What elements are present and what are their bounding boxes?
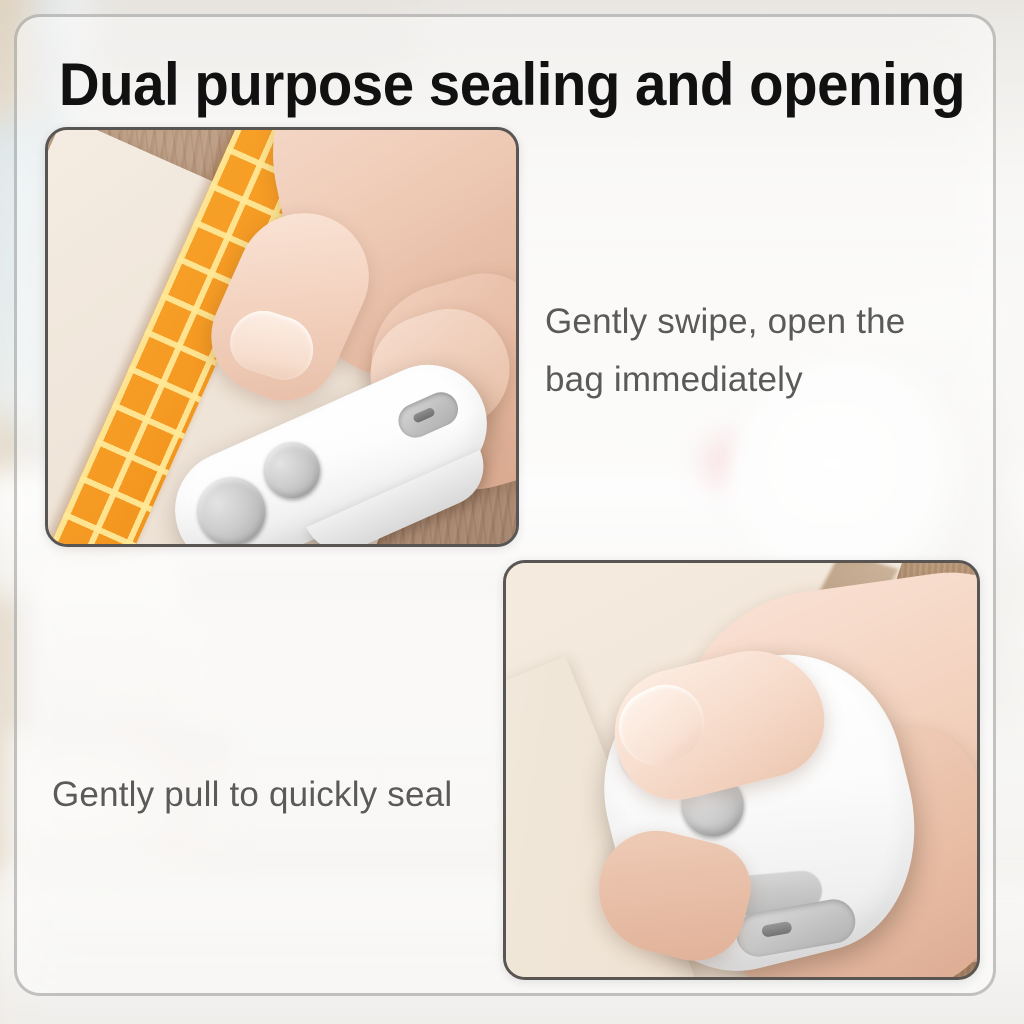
caption-seal-line-1: Gently pull to quickly seal (52, 766, 522, 824)
scene-seal (506, 563, 977, 977)
product-feature-image: Dual purpose sealing and opening Gently … (0, 0, 1024, 1024)
caption-swipe-line-2: bag immediately (545, 351, 975, 409)
photo-panel-swipe (45, 127, 519, 547)
photo-panel-seal (503, 560, 980, 980)
scene-swipe (48, 130, 516, 544)
caption-seal: Gently pull to quickly seal (52, 766, 522, 824)
device-button-small (255, 433, 329, 507)
device-cutter-slot (393, 387, 463, 443)
page-title: Dual purpose sealing and opening (31, 52, 994, 118)
thumb-nail (223, 302, 322, 387)
caption-swipe-line-1: Gently swipe, open the (545, 293, 975, 351)
device-button-large (187, 466, 277, 544)
caption-swipe: Gently swipe, open the bag immediately (545, 293, 975, 409)
